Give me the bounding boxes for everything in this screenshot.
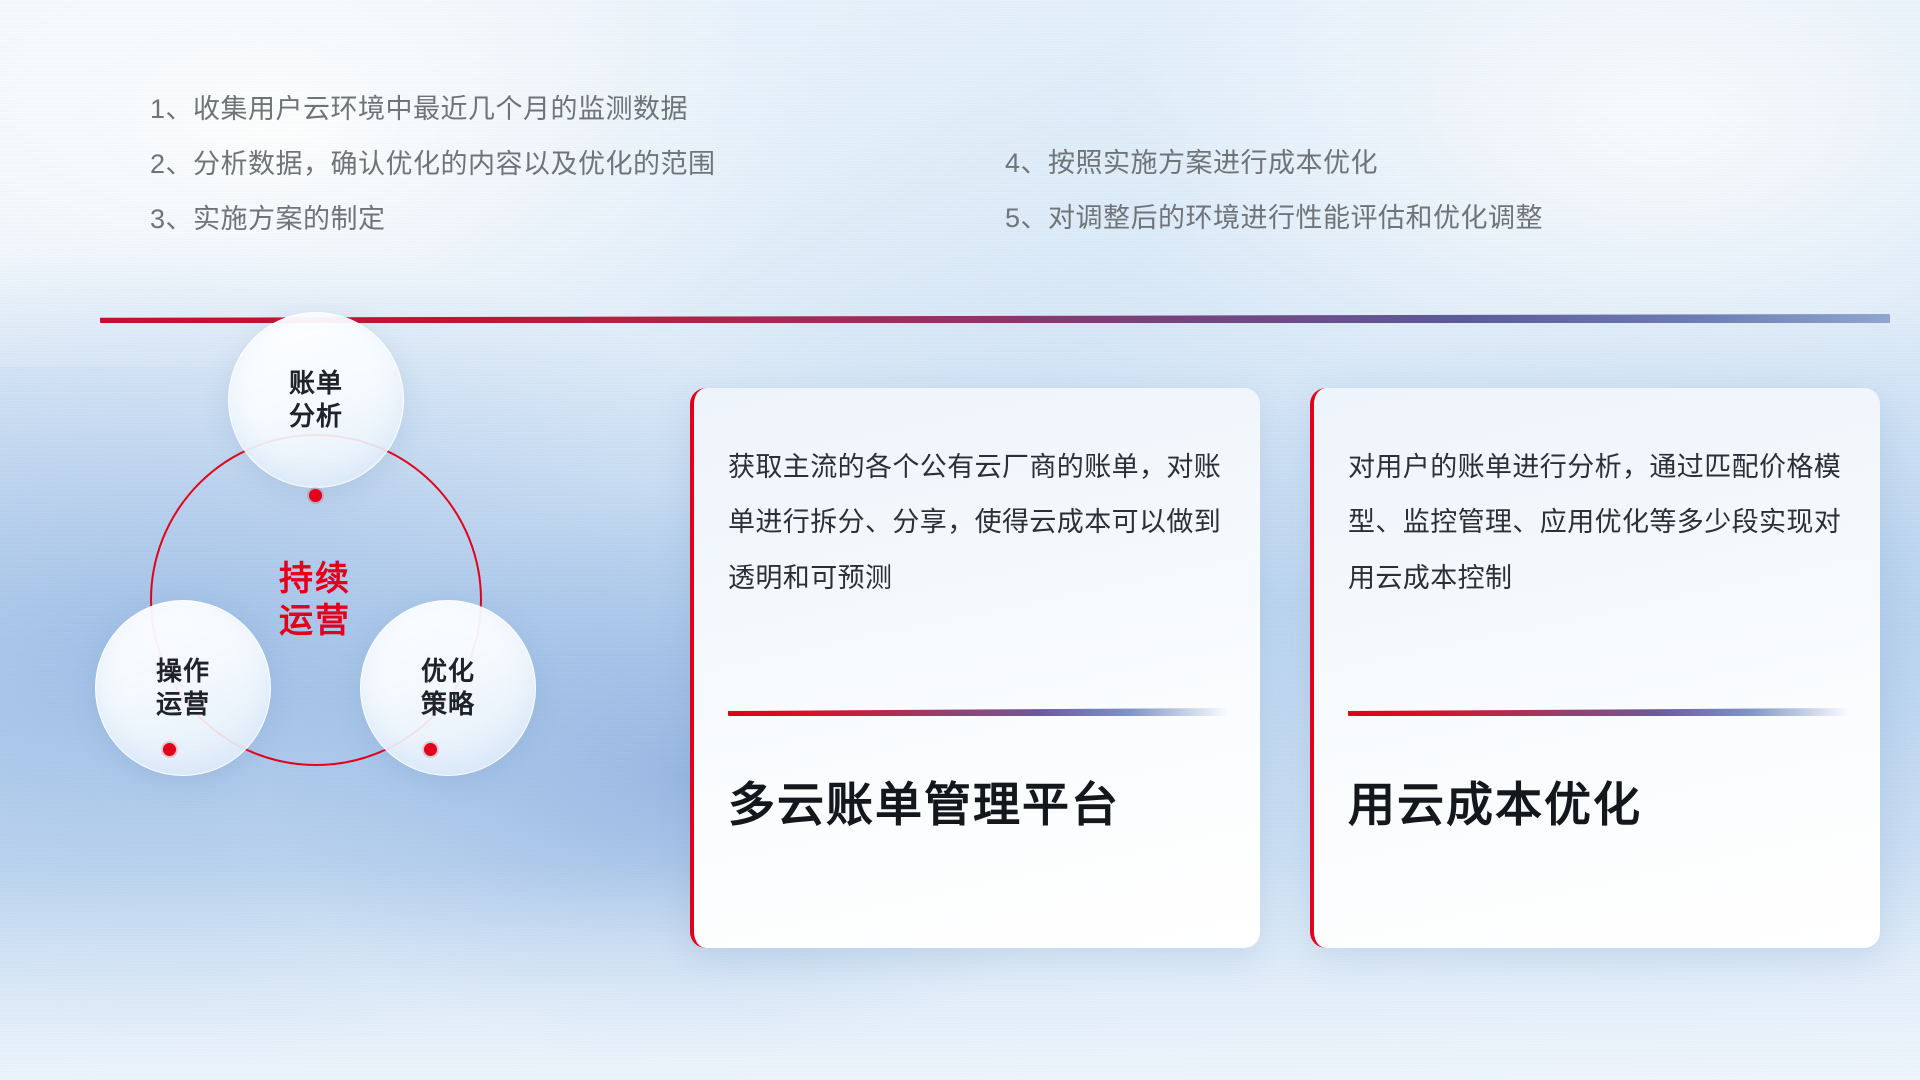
diagram-node-label-line2: 策略 <box>421 688 475 721</box>
diagram-node-dot-bottom-right <box>424 743 437 756</box>
diagram-node-operations[interactable]: 操作 运营 <box>95 600 271 776</box>
steps-section: 1、收集用户云环境中最近几个月的监测数据 2、分析数据，确认优化的内容以及优化的… <box>0 0 1920 260</box>
step-item-2: 2、分析数据，确认优化的内容以及优化的范围 <box>150 151 716 178</box>
diagram-node-billing-analysis[interactable]: 账单 分析 <box>228 312 404 488</box>
diagram-node-label: 操作 运营 <box>156 655 210 722</box>
step-item-4: 4、按照实施方案进行成本优化 <box>1005 150 1543 177</box>
continuous-operations-diagram: 持续 运营 账单 分析 操作 运营 优化 策略 <box>95 350 565 910</box>
diagram-node-dot-bottom-left <box>163 743 176 756</box>
step-item-5: 5、对调整后的环境进行性能评估和优化调整 <box>1005 205 1543 232</box>
diagram-node-label-line2: 分析 <box>289 400 343 433</box>
diagram-center-label: 持续 运营 <box>279 558 351 642</box>
diagram-node-label-line1: 操作 <box>156 655 210 688</box>
feature-card-divider <box>1348 708 1848 716</box>
steps-list-left: 1、收集用户云环境中最近几个月的监测数据 2、分析数据，确认优化的内容以及优化的… <box>150 96 716 261</box>
steps-list-right: 4、按照实施方案进行成本优化 5、对调整后的环境进行性能评估和优化调整 <box>1005 150 1543 260</box>
feature-card-body: 对用户的账单进行分析，通过匹配价格模型、监控管理、应用优化等多少段实现对用云成本… <box>1348 440 1850 606</box>
feature-card-cloud-cost-optimization[interactable]: 对用户的账单进行分析，通过匹配价格模型、监控管理、应用优化等多少段实现对用云成本… <box>1310 388 1880 948</box>
diagram-node-label: 账单 分析 <box>289 367 343 434</box>
step-item-1: 1、收集用户云环境中最近几个月的监测数据 <box>150 96 716 123</box>
diagram-node-label-line1: 优化 <box>421 655 475 688</box>
feature-card-multi-cloud-billing-platform[interactable]: 获取主流的各个公有云厂商的账单，对账单进行拆分、分享，使得云成本可以做到透明和可… <box>690 388 1260 948</box>
feature-card-title: 用云成本优化 <box>1348 766 1642 835</box>
diagram-node-dot-top <box>309 489 322 502</box>
step-item-3: 3、实施方案的制定 <box>150 206 716 233</box>
diagram-center-label-line2: 运营 <box>279 600 351 642</box>
feature-card-divider <box>728 708 1228 716</box>
diagram-node-label: 优化 策略 <box>421 655 475 722</box>
diagram-node-label-line1: 账单 <box>289 367 343 400</box>
diagram-center-label-line1: 持续 <box>279 558 351 600</box>
feature-card-body: 获取主流的各个公有云厂商的账单，对账单进行拆分、分享，使得云成本可以做到透明和可… <box>728 440 1230 606</box>
diagram-node-optimization-strategy[interactable]: 优化 策略 <box>360 600 536 776</box>
feature-card-title: 多云账单管理平台 <box>728 766 1120 835</box>
diagram-node-label-line2: 运营 <box>156 688 210 721</box>
